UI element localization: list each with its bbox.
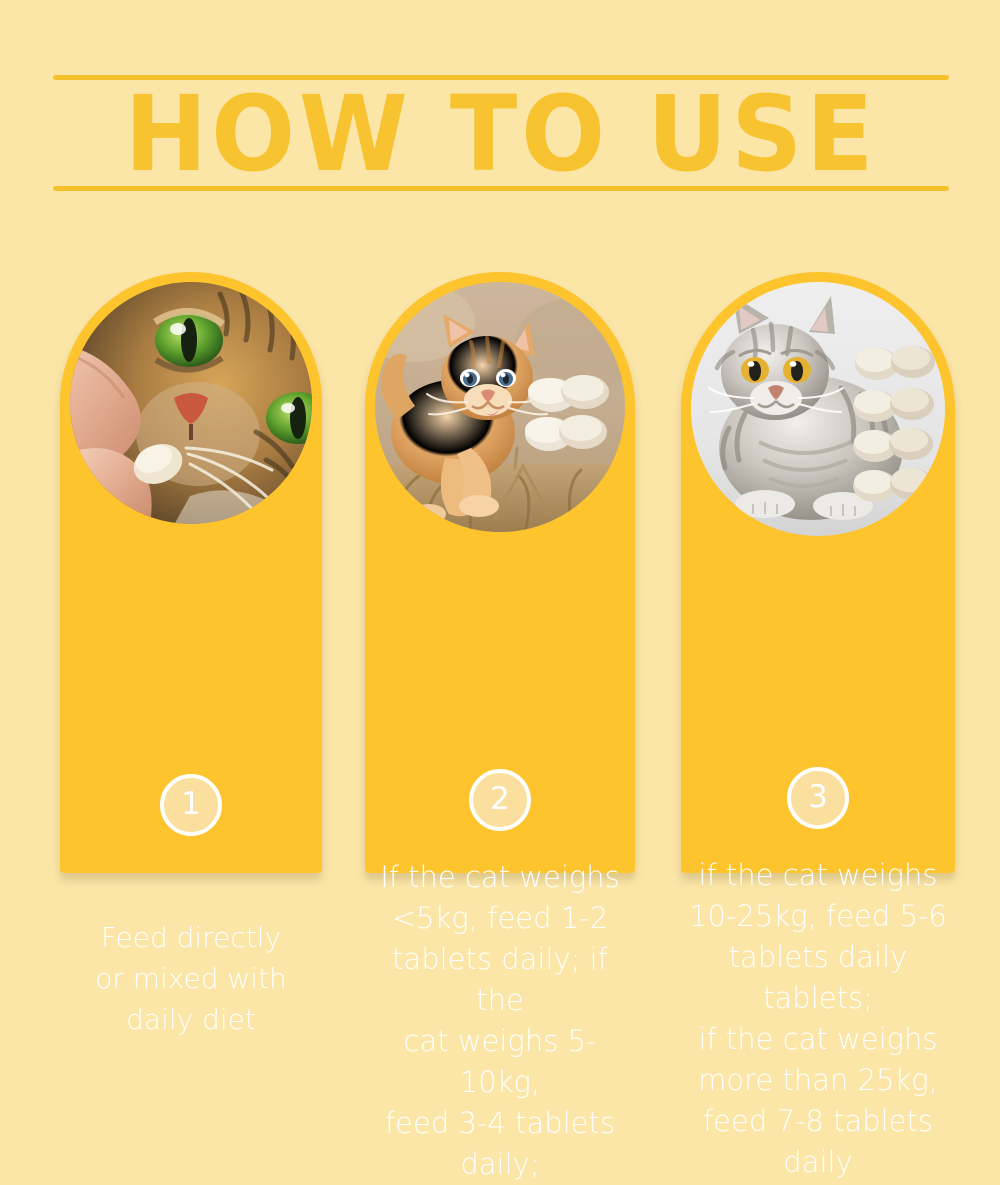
step-1-badge: 1 <box>160 774 222 836</box>
step-3-number: 3 <box>808 782 828 813</box>
step-card-3: 3 if the cat weighs 10-25kg, feed 5-6 ta… <box>681 272 955 873</box>
step-card-2: 2 If the cat weighs <5kg, feed 1-2 table… <box>365 272 635 873</box>
step-2-photo <box>375 282 625 532</box>
step-3-photo <box>691 282 945 536</box>
step-1-text: Feed directly or mixed with daily diet <box>68 917 314 1040</box>
step-2-number: 2 <box>490 784 510 815</box>
step-1-photo <box>70 282 312 524</box>
step-2-badge: 2 <box>469 769 531 831</box>
tabby-cat-taking-tablet-from-finger-icon <box>70 282 312 524</box>
step-card-1: 1 Feed directly or mixed with daily diet <box>60 272 322 873</box>
silver-tabby-cat-with-eight-tablets-icon <box>691 282 945 536</box>
step-3-badge: 3 <box>787 767 849 829</box>
step-3-text: if the cat weighs 10-25kg, feed 5-6 tabl… <box>689 855 947 1183</box>
step-2-text: If the cat weighs <5kg, feed 1-2 tablets… <box>373 857 627 1185</box>
step-1-number: 1 <box>181 789 201 820</box>
ginger-kitten-with-four-tablets-icon <box>375 282 625 532</box>
steps-container: 1 Feed directly or mixed with daily diet <box>0 0 1000 1000</box>
